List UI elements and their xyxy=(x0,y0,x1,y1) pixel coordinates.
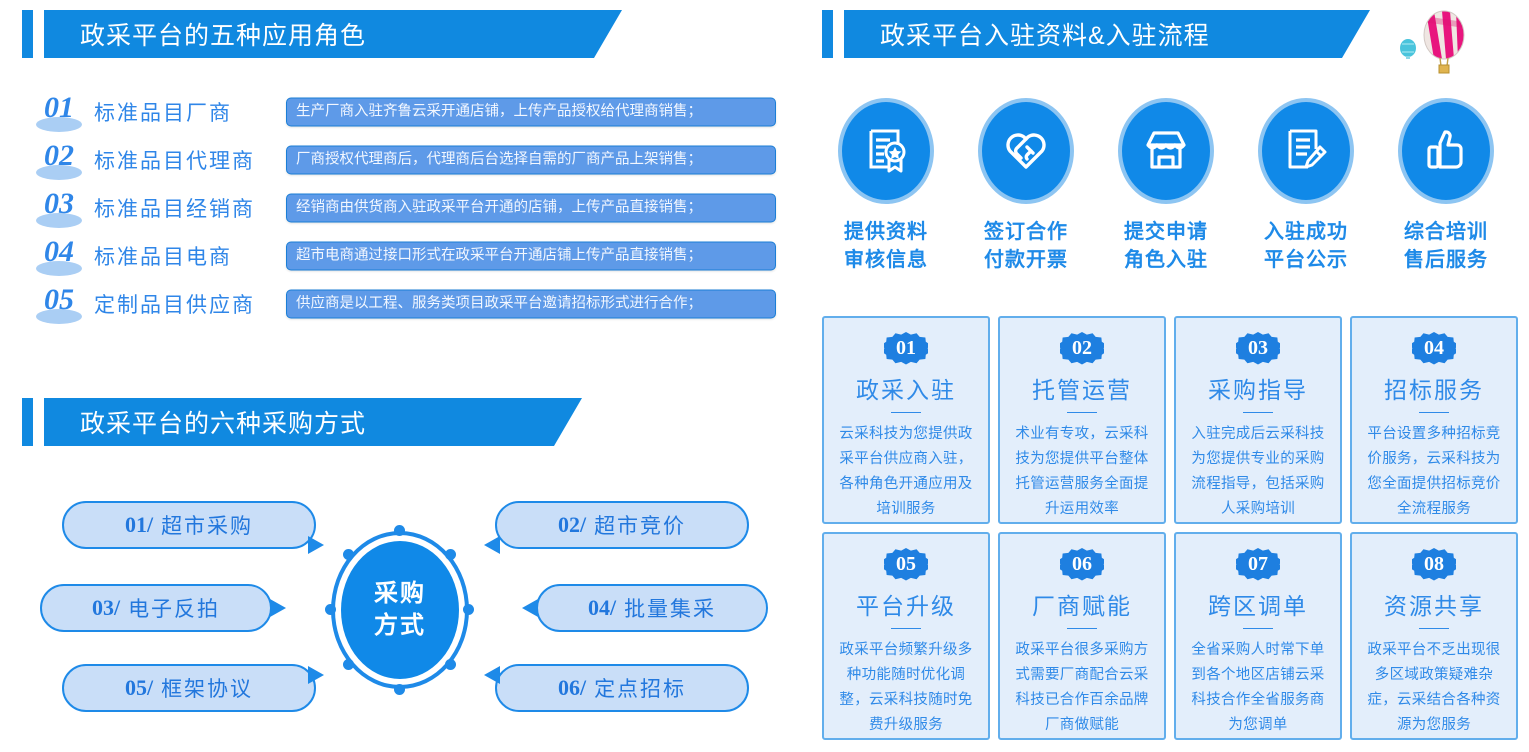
card-number: 02 xyxy=(1072,337,1092,360)
role-number-badge: 05 xyxy=(30,282,88,326)
method-pill-05[interactable]: 05/ 框架协议 xyxy=(62,664,316,712)
method-pill-04[interactable]: 04/ 批量集采 xyxy=(536,584,768,632)
service-card[interactable]: 04 招标服务 平台设置多种招标竞价服务，云采科技为您全面提供招标竞价全流程服务 xyxy=(1350,316,1518,524)
method-label: 定点招标 xyxy=(594,673,686,703)
card-number-badge: 04 xyxy=(1412,332,1456,365)
service-card[interactable]: 05 平台升级 政采平台频繁升级多种功能随时优化调整，云采科技随时免费升级服务 xyxy=(822,532,990,740)
onboarding-header-title: 政采平台入驻资料&入驻流程 xyxy=(880,10,1210,58)
method-number: 04/ xyxy=(588,595,616,621)
card-title: 资源共享 xyxy=(1384,587,1484,621)
role-number-badge: 02 xyxy=(30,138,88,182)
flow-step-circle xyxy=(1398,98,1494,204)
card-title: 平台升级 xyxy=(856,587,956,621)
role-description: 厂商授权代理商后，代理商后台选择自需的厂商产品上架销售； xyxy=(286,146,776,175)
handshake-heart-icon xyxy=(1000,123,1052,180)
role-number-text: 02 xyxy=(44,141,74,171)
flow-step-line2: 付款开票 xyxy=(984,246,1068,274)
document-edit-icon xyxy=(1280,123,1332,180)
method-number: 06/ xyxy=(558,675,586,701)
role-item[interactable]: 03 标准品目经销商 经销商由供货商入驻政采平台开通的店铺，上传产品直接销售； xyxy=(0,184,790,232)
method-pill-tail-04 xyxy=(522,599,538,617)
role-description: 超市电商通过接口形式在政采平台开通店铺上传产品直接销售； xyxy=(286,242,776,271)
card-title: 跨区调单 xyxy=(1208,587,1308,621)
flow-step-circle xyxy=(838,98,934,204)
methods-header-title: 政采平台的六种采购方式 xyxy=(80,398,366,446)
hub-core: 采购 方式 xyxy=(341,541,459,679)
method-pill-tail-03 xyxy=(270,599,286,617)
flow-step-label: 签订合作 付款开票 xyxy=(984,218,1068,274)
roles-header-title: 政采平台的五种应用角色 xyxy=(80,10,366,58)
service-card[interactable]: 06 厂商赋能 政采平台很多采购方式需要厂商配合云采科技已合作百余品牌厂商做赋能 xyxy=(998,532,1166,740)
role-name: 定制品目供应商 xyxy=(94,289,255,319)
service-card[interactable]: 03 采购指导 入驻完成后云采科技为您提供专业的采购流程指导，包括采购人采购培训 xyxy=(1174,316,1342,524)
role-number-text: 05 xyxy=(44,285,74,315)
method-pill-tail-05 xyxy=(308,666,324,684)
method-label: 超市采购 xyxy=(161,510,253,540)
flow-step-line2: 角色入驻 xyxy=(1124,246,1208,274)
flow-step-line2: 审核信息 xyxy=(844,246,928,274)
header-accent-bar xyxy=(822,10,833,58)
flow-step[interactable]: 签订合作 付款开票 xyxy=(956,98,1096,274)
service-cards-grid: 01 政采入驻 云采科技为您提供政采平台供应商入驻，各种角色开通应用及培训服务 … xyxy=(822,316,1518,744)
method-label: 框架协议 xyxy=(161,673,253,703)
card-body: 入驻完成后云采科技为您提供专业的采购流程指导，包括采购人采购培训 xyxy=(1176,422,1340,522)
flow-step-label: 入驻成功 平台公示 xyxy=(1264,218,1348,274)
hub-dot xyxy=(463,604,474,615)
flow-step-line1: 综合培训 xyxy=(1404,218,1488,246)
card-divider xyxy=(1067,628,1097,629)
role-name: 标准品目代理商 xyxy=(94,145,255,175)
hub-dot xyxy=(445,659,456,670)
role-item[interactable]: 05 定制品目供应商 供应商是以工程、服务类项目政采平台邀请招标形式进行合作； xyxy=(0,280,790,328)
card-title: 托管运营 xyxy=(1032,371,1132,405)
method-pill-01[interactable]: 01/ 超市采购 xyxy=(62,501,316,549)
method-label: 批量集采 xyxy=(624,593,716,623)
card-number: 05 xyxy=(896,553,916,576)
method-pill-06[interactable]: 06/ 定点招标 xyxy=(495,664,749,712)
card-divider xyxy=(1067,412,1097,413)
onboarding-section-header: 政采平台入驻资料&入驻流程 xyxy=(822,10,1370,58)
role-description: 生产厂商入驻齐鲁云采开通店铺，上传产品授权给代理商销售； xyxy=(286,98,776,127)
card-number: 06 xyxy=(1072,553,1092,576)
card-body: 云采科技为您提供政采平台供应商入驻，各种角色开通应用及培训服务 xyxy=(824,422,988,522)
role-number-text: 03 xyxy=(44,189,74,219)
role-name: 标准品目电商 xyxy=(94,241,232,271)
roles-list: 01 标准品目厂商 生产厂商入驻齐鲁云采开通店铺，上传产品授权给代理商销售； 0… xyxy=(0,88,790,328)
hub-dot xyxy=(394,684,405,695)
card-body: 平台设置多种招标竞价服务，云采科技为您全面提供招标竞价全流程服务 xyxy=(1352,422,1516,522)
service-card[interactable]: 08 资源共享 政采平台不乏出现很多区域政策疑难杂症，云采结合各种资源为您服务 xyxy=(1350,532,1518,740)
card-number-badge: 05 xyxy=(884,548,928,581)
card-number: 07 xyxy=(1248,553,1268,576)
method-number: 01/ xyxy=(125,512,153,538)
card-divider xyxy=(1419,628,1449,629)
flow-step-line1: 入驻成功 xyxy=(1264,218,1348,246)
card-number-badge: 07 xyxy=(1236,548,1280,581)
role-name: 标准品目厂商 xyxy=(94,97,232,127)
flow-step-line1: 签订合作 xyxy=(984,218,1068,246)
role-description: 经销商由供货商入驻政采平台开通的店铺，上传产品直接销售； xyxy=(286,194,776,223)
roles-section-header: 政采平台的五种应用角色 xyxy=(22,10,622,58)
card-title: 招标服务 xyxy=(1384,371,1484,405)
hub-dot xyxy=(325,604,336,615)
card-number-badge: 03 xyxy=(1236,332,1280,365)
card-body: 术业有专攻，云采科技为您提供平台整体托管运营服务全面提升运用效率 xyxy=(1000,422,1164,522)
role-item[interactable]: 04 标准品目电商 超市电商通过接口形式在政采平台开通店铺上传产品直接销售； xyxy=(0,232,790,280)
thumbs-up-icon xyxy=(1420,123,1472,180)
role-description: 供应商是以工程、服务类项目政采平台邀请招标形式进行合作； xyxy=(286,290,776,319)
method-number: 02/ xyxy=(558,512,586,538)
card-number: 08 xyxy=(1424,553,1444,576)
card-divider xyxy=(1243,412,1273,413)
card-number-badge: 06 xyxy=(1060,548,1104,581)
flow-step[interactable]: 提交申请 角色入驻 xyxy=(1096,98,1236,274)
flow-step-line2: 平台公示 xyxy=(1264,246,1348,274)
flow-step-line1: 提交申请 xyxy=(1124,218,1208,246)
certificate-icon xyxy=(860,123,912,180)
hub-dot xyxy=(343,659,354,670)
card-body: 政采平台不乏出现很多区域政策疑难杂症，云采结合各种资源为您服务 xyxy=(1352,638,1516,738)
hub-dot xyxy=(394,525,405,536)
hub-dot xyxy=(445,549,456,560)
role-name: 标准品目经销商 xyxy=(94,193,255,223)
methods-hub: 采购 方式 xyxy=(327,527,473,693)
hub-label-line2: 方式 xyxy=(374,610,426,642)
method-number: 05/ xyxy=(125,675,153,701)
role-number-badge: 03 xyxy=(30,186,88,230)
flow-step[interactable]: 综合培训 售后服务 xyxy=(1376,98,1516,274)
flow-step-label: 综合培训 售后服务 xyxy=(1404,218,1488,274)
onboarding-flow: 提供资料 审核信息 签订合作 付款开票 xyxy=(816,98,1516,274)
flow-step-label: 提交申请 角色入驻 xyxy=(1124,218,1208,274)
method-label: 超市竞价 xyxy=(594,510,686,540)
hub-label-line1: 采购 xyxy=(374,578,426,610)
card-title: 厂商赋能 xyxy=(1032,587,1132,621)
card-number: 01 xyxy=(896,337,916,360)
infographic-page: 政采平台的五种应用角色 01 标准品目厂商 生产厂商入驻齐鲁云采开通店铺，上传产… xyxy=(0,0,1529,752)
method-number: 03/ xyxy=(92,595,120,621)
method-pill-02[interactable]: 02/ 超市竞价 xyxy=(495,501,749,549)
role-item[interactable]: 02 标准品目代理商 厂商授权代理商后，代理商后台选择自需的厂商产品上架销售； xyxy=(0,136,790,184)
role-number-text: 01 xyxy=(44,93,74,123)
role-item[interactable]: 01 标准品目厂商 生产厂商入驻齐鲁云采开通店铺，上传产品授权给代理商销售； xyxy=(0,88,790,136)
role-number-text: 04 xyxy=(44,237,74,267)
flow-step-line2: 售后服务 xyxy=(1404,246,1488,274)
flow-step[interactable]: 入驻成功 平台公示 xyxy=(1236,98,1376,274)
storefront-icon xyxy=(1140,123,1192,180)
method-label: 电子反拍 xyxy=(128,593,220,623)
card-divider xyxy=(1419,412,1449,413)
card-body: 政采平台很多采购方式需要厂商配合云采科技已合作百余品牌厂商做赋能 xyxy=(1000,638,1164,738)
method-pill-tail-06 xyxy=(484,666,500,684)
header-accent-bar xyxy=(22,10,33,58)
card-number-badge: 08 xyxy=(1412,548,1456,581)
flow-step-line1: 提供资料 xyxy=(844,218,928,246)
flow-step-circle xyxy=(1258,98,1354,204)
card-body: 政采平台频繁升级多种功能随时优化调整，云采科技随时免费升级服务 xyxy=(824,638,988,738)
card-number: 03 xyxy=(1248,337,1268,360)
hub-dot xyxy=(343,549,354,560)
method-pill-tail-01 xyxy=(308,536,324,554)
service-card[interactable]: 02 托管运营 术业有专攻，云采科技为您提供平台整体托管运营服务全面提升运用效率 xyxy=(998,316,1166,524)
card-divider xyxy=(891,628,921,629)
card-title: 采购指导 xyxy=(1208,371,1308,405)
card-divider xyxy=(1243,628,1273,629)
card-divider xyxy=(891,412,921,413)
role-number-badge: 04 xyxy=(30,234,88,278)
flow-step[interactable]: 提供资料 审核信息 xyxy=(816,98,956,274)
card-title: 政采入驻 xyxy=(856,371,956,405)
method-pill-tail-02 xyxy=(484,536,500,554)
card-body: 全省采购人时常下单到各个地区店铺云采科技合作全省服务商为您调单 xyxy=(1176,638,1340,738)
card-number-badge: 01 xyxy=(884,332,928,365)
flow-step-circle xyxy=(1118,98,1214,204)
role-number-badge: 01 xyxy=(30,90,88,134)
hot-air-balloon-icon xyxy=(1396,8,1476,80)
card-number-badge: 02 xyxy=(1060,332,1104,365)
flow-step-circle xyxy=(978,98,1074,204)
flow-step-label: 提供资料 审核信息 xyxy=(844,218,928,274)
card-number: 04 xyxy=(1424,337,1444,360)
service-card[interactable]: 01 政采入驻 云采科技为您提供政采平台供应商入驻，各种角色开通应用及培训服务 xyxy=(822,316,990,524)
service-card[interactable]: 07 跨区调单 全省采购人时常下单到各个地区店铺云采科技合作全省服务商为您调单 xyxy=(1174,532,1342,740)
method-pill-03[interactable]: 03/ 电子反拍 xyxy=(40,584,272,632)
